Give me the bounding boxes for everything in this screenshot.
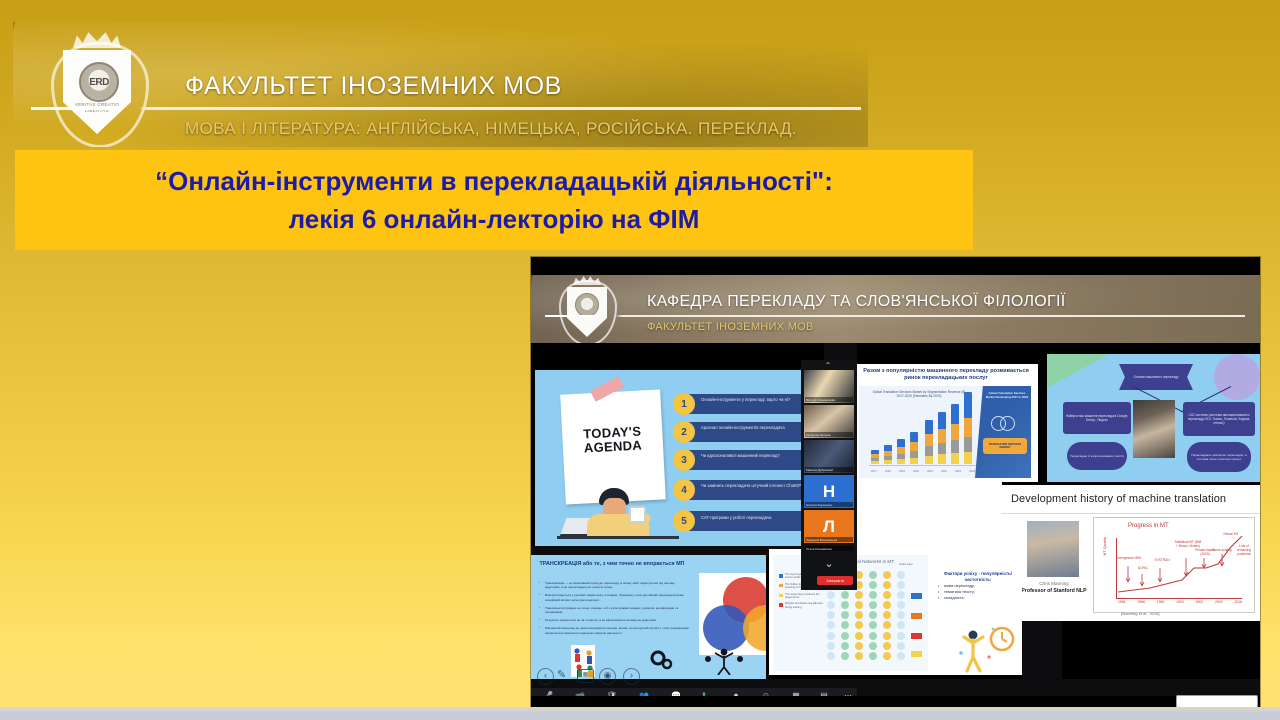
nn-legend-item: Weights and biases are adjusted during t…: [785, 602, 823, 608]
pen-icon[interactable]: ✎: [557, 669, 570, 682]
participant-tile[interactable]: Катерина Орлова: [804, 405, 854, 438]
mt-history-citation: [Manning et al., 2016]: [1121, 611, 1159, 616]
collapse-chevron-icon[interactable]: ⌃: [821, 362, 835, 369]
market-growth-slide: Разом з популярністю машинного перекладу…: [853, 364, 1038, 482]
mt-basics-left-cloud: Перекладає із запропонованих текстів: [1067, 442, 1127, 470]
market-chart-area: Global Translation Services Market by Se…: [859, 386, 1031, 478]
slides-icon[interactable]: ▦: [577, 669, 594, 683]
chris-manning-photo: [1027, 521, 1079, 577]
market-side-panel: Global Translation Services Market Devel…: [975, 386, 1031, 478]
faculty-title: ФАКУЛЬТЕТ ІНОЗЕМНИХ МОВ: [185, 72, 562, 101]
participant-name: Людмила Вишневська: [805, 537, 853, 542]
market-chart-title: Global Translation Services Market by Se…: [869, 390, 969, 398]
clock-person-illustration: [955, 623, 1017, 673]
mt-basics-right-node: САТ-системи (системи автоматизованого пе…: [1183, 402, 1255, 436]
market-heading-line1: Разом з популярністю машинного перекладу: [863, 368, 988, 374]
presentation-slide: ERD VERITAS CREATIO LIBERTAS ФАКУЛЬТЕТ І…: [0, 0, 1280, 720]
mt-basics-photo: [1133, 400, 1175, 458]
zoom-participants-panel[interactable]: ⌃ Вікторія Кожевнікова Катерина Орлова М…: [801, 360, 857, 590]
participant-tile[interactable]: Л Людмила Вишневська: [804, 510, 854, 543]
participant-tile[interactable]: Максим Дубровний: [804, 440, 854, 473]
department-header-banner: КАФЕДРА ПЕРЕКЛАДУ ТА СЛОВ'ЯНСЬКОЇ ФІЛОЛО…: [531, 275, 1260, 343]
participant-name: Вікторія Кожевнікова: [805, 397, 853, 402]
agenda-number: 5: [673, 510, 695, 532]
embedded-screenshot: КАФЕДРА ПЕРЕКЛАДУ ТА СЛОВ'ЯНСЬКОЇ ФІЛОЛО…: [531, 257, 1260, 710]
mt-history-slide: Development history of machine translati…: [1001, 485, 1260, 621]
faculty-subtitle: МОВА І ЛІТЕРАТУРА: АНГЛІЙСЬКА, НІМЕЦЬКА,…: [185, 119, 797, 139]
market-x-labels: 2017 2018 2019 2020 2021 2022 2023 2024: [871, 470, 975, 473]
screenshot-gap-3: [857, 482, 1002, 550]
lecture-title-banner: “Онлайн-інструменти в перекладацькій дія…: [15, 150, 973, 250]
mt-annotation: Some scaling: [1212, 548, 1232, 552]
agenda-slide: TODAY'S AGENDA 1 Онлайн-інструменти у пе…: [535, 370, 824, 546]
lecture-title-line1: “Онлайн-інструменти в перекладацькій дія…: [155, 162, 833, 200]
participant-name: Катерина Орлова: [805, 432, 853, 437]
header-divider: [31, 107, 861, 110]
emblem-initials: ERD: [81, 64, 117, 100]
transcreation-heading-line1: ТРАНСКРЕАЦІЯ або те, з чим точно: [540, 561, 635, 567]
transcreation-bullet: Результат оцінюється не за точністю, а з…: [539, 618, 689, 622]
department-title: КАФЕДРА ПЕРЕКЛАДУ ТА СЛОВ'ЯНСЬКОЇ ФІЛОЛО…: [647, 293, 1066, 311]
person-illustration: [577, 488, 687, 540]
chris-manning-name: Chris Manning: [1009, 581, 1099, 586]
success-factors-block: Фактори успіху - популярність/ частотніс…: [937, 571, 1019, 601]
transcreation-bullet: Транскреація — це креативний підхід до п…: [539, 581, 689, 589]
market-bar-chart: [871, 402, 975, 464]
agenda-number: 4: [673, 479, 695, 501]
transcreation-bullet: Використовується у рекламі, маркетингу, …: [539, 593, 689, 601]
globe-icon[interactable]: ◉: [599, 668, 616, 685]
mt-progress-x-ticks: 1954 1966 1982 1993 2002 2009 2016: [1118, 600, 1242, 604]
market-side-title: Global Translation Services Market Devel…: [985, 392, 1029, 400]
more-participants-chevron-icon[interactable]: ⌄: [819, 558, 839, 570]
participant-tile[interactable]: Вікторія Кожевнікова: [804, 370, 854, 403]
mt-history-heading: Development history of machine translati…: [1011, 493, 1226, 505]
factor-item: складність.: [937, 595, 1019, 601]
nn-output-label: Output Layer: [899, 563, 913, 566]
mt-basics-right-cloud: Перекладають виключно перекладач, а сист…: [1187, 442, 1251, 472]
slide-bottom-strip: [0, 707, 1280, 720]
mt-annotation: ALPAC: [1134, 566, 1152, 570]
mt-annotation: SYSTRAN: [1152, 558, 1172, 562]
agenda-card-line2: AGENDA: [584, 437, 643, 455]
arrow-right-icon[interactable]: ›: [623, 668, 640, 685]
participant-tile[interactable]: Н Наталія Кириченко: [804, 475, 854, 508]
venn-diagram: [699, 573, 766, 655]
lecture-title-line2: лекія 6 онлайн-лекторію на ФІМ: [289, 200, 700, 238]
transcreation-bullet: Транскреатор працює не лише з мовою, а й…: [539, 606, 689, 614]
transcreation-heading-line2: не впорається МП: [636, 561, 685, 567]
leave-meeting-button[interactable]: Завершити: [817, 576, 853, 585]
department-subtitle: ФАКУЛЬТЕТ ІНОЗЕМНИХ МОВ: [647, 321, 814, 333]
market-badge: TRANSLATION SERVICES MARKET: [983, 438, 1027, 454]
mt-annotation: Georgetown IBM: [1116, 556, 1142, 560]
mt-annotation: Lots of remaining problems!: [1234, 544, 1254, 556]
mt-annotation: Statistical MT (IBM + Brown, Moses): [1174, 540, 1202, 548]
agenda-number: 3: [673, 449, 695, 471]
department-emblem-icon: [555, 275, 617, 343]
university-emblem-icon: ERD VERITAS CREATIO LIBERTAS: [45, 28, 149, 146]
department-divider: [545, 315, 1245, 317]
mt-basics-left-node: Найпростіші машинні перекладачі Google, …: [1063, 402, 1131, 434]
mt-basics-slide: Основи машинного перекладу Найпростіші м…: [1047, 354, 1260, 482]
transcreation-slide: ТРАНСКРЕАЦІЯ або те, з чим точно не впор…: [531, 555, 766, 679]
agenda-number: 1: [673, 393, 695, 415]
mt-basics-root: Основи машинного перекладу: [1119, 364, 1193, 390]
mt-annotation: Neural MT: [1220, 532, 1242, 536]
slideshow-navigation-bar[interactable]: ‹ ✎ ▦ ◉ ›: [531, 664, 857, 688]
participant-name: Ольга Качанівська: [805, 546, 853, 551]
agenda-number: 2: [673, 421, 695, 443]
participant-name: Максим Дубровний: [805, 467, 853, 472]
participant-name: Наталія Кириченко: [805, 502, 853, 507]
faculty-header-banner: ERD VERITAS CREATIO LIBERTAS ФАКУЛЬТЕТ І…: [13, 22, 868, 147]
nn-legend-item: The output layer produces the target wor…: [785, 593, 819, 599]
transcreation-bullet: Машинний переклад не здатен відтворити е…: [539, 626, 689, 634]
mt-progress-chart: Progress in MT MT Quality Georgetown IBM: [1093, 517, 1255, 613]
arrow-left-icon[interactable]: ‹: [537, 668, 554, 685]
